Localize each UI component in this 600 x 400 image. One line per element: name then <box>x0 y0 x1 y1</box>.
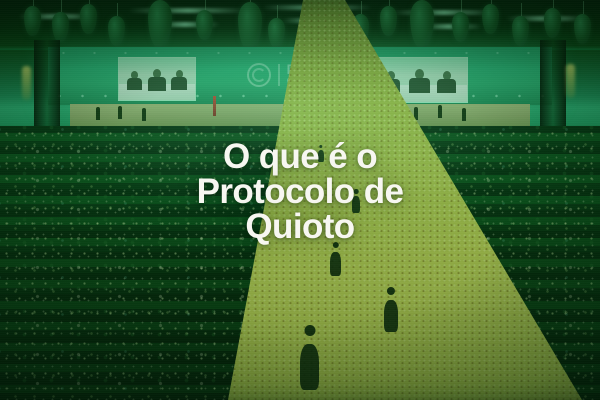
image-canvas: DOHA 2012 COP18-CMP8 <box>0 0 600 400</box>
left-projection-screen <box>118 57 196 101</box>
flag <box>213 96 216 116</box>
headline-line-1: O que é o <box>40 139 560 174</box>
cop18-circular-logo-icon <box>247 63 271 87</box>
aisle-figure <box>330 252 341 276</box>
stage-figure <box>438 105 442 118</box>
stage-figure <box>118 106 122 119</box>
headline-line-3: Quioto <box>40 209 560 244</box>
stage-figure <box>96 107 100 120</box>
headline-line-2: Protocolo de <box>40 174 560 209</box>
right-side-light <box>566 64 575 98</box>
right-pillar <box>540 40 566 126</box>
stage-figure <box>462 108 466 121</box>
aisle-figure <box>384 300 398 332</box>
branding-divider <box>278 64 280 86</box>
aisle-figure <box>300 344 319 390</box>
left-pillar <box>34 40 60 126</box>
stage-figure <box>142 108 146 121</box>
left-side-light <box>22 66 31 100</box>
headline-overlay: O que é o Protocolo de Quioto <box>0 139 600 244</box>
